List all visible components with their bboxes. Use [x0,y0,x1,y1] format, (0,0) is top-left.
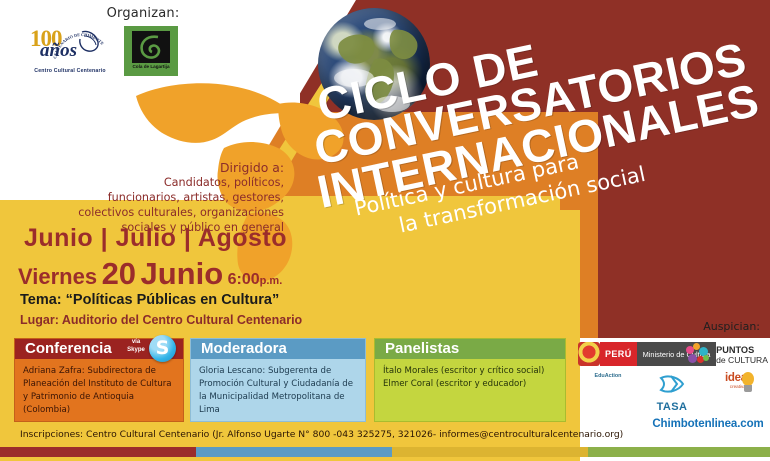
logo-caption-lagartija: Cola de Lagartija [124,64,178,69]
event-weekday: Viernes [18,264,97,289]
logo-word-anos: años [40,40,77,62]
eduaction-label: EduAction [580,373,636,379]
month-separator-2: | [184,224,192,252]
skype-icon: S [149,335,176,362]
panel-panelistas-title: Panelistas [385,340,459,357]
sponsor-eduaction: EduAction [580,372,636,379]
puntos-line-1: PUNTOS [716,345,754,355]
event-time: 6:00 [228,271,260,288]
event-date-line: Viernes 20 Junio 6:00p.m. [18,256,282,292]
panel-panelistas: Panelistas Ítalo Morales (escritor y crí… [374,338,566,422]
panel-panelistas-body: Ítalo Morales (escritor y crítico social… [375,359,565,395]
strip-segment-red [0,447,196,457]
months-line: Junio | Julio | Agosto [24,224,287,253]
panel-conferencia: Conferencia vía Skype S Adriana Zafra: S… [14,338,184,422]
tasa-label: TASA [642,401,702,413]
skype-via-word: vía [132,339,140,345]
panel-panelistas-header: Panelistas [375,339,565,359]
panel-conferencia-header: Conferencia vía Skype S [15,339,183,359]
event-meridiem: p.m. [260,275,283,287]
tasa-fish-icon [657,383,687,400]
event-venue: Lugar: Auditorio del Centro Cultural Cen… [20,313,302,327]
auspician-label: Auspician: [640,320,760,333]
panel-moderadora-header: Moderadora [191,339,365,359]
event-month: Junio [141,256,224,291]
logo-cola-de-lagartija: Cola de Lagartija [124,26,178,76]
panel-moderadora-body: Gloria Lescano: Subgerenta de Promoción … [191,359,365,421]
audience-line-2: funcionarios, artistas, gestores, [52,191,284,206]
month-junio: Junio [24,224,93,252]
audience-line-3: colectivos culturales, organizaciones [52,206,284,221]
event-day: 20 [102,256,136,291]
panel-moderadora-title: Moderadora [201,340,287,357]
panel-moderadora: Moderadora Gloria Lescano: Subgerenta de… [190,338,366,422]
panelista-1: Ítalo Morales (escritor y crítico social… [383,365,557,378]
event-theme: Tema: “Políticas Públicas en Cultura” [20,292,279,308]
panel-conferencia-title: Conferencia [25,340,112,357]
panelista-2: Elmer Coral (escritor y educador) [383,378,557,391]
sponsor-row-primary: PERÚ Ministerio de Cultura PUNTOS de CUL… [578,342,768,368]
strip-segment-blue [196,447,392,457]
ideas-label: ideas [708,372,770,384]
ideas-sublabel: creativas [708,384,770,389]
strip-segment-green [588,447,770,457]
panel-conferencia-body: Adriana Zafra: Subdirectora de Planeació… [15,359,183,421]
month-julio: Julio [116,224,177,252]
sponsor-chimbotenlinea[interactable]: Chimbotenlinea.com [648,418,768,430]
logo-centro-cultural-centenario: CENTENARIO DE CHIMBOTE 100 años Centro C… [24,24,116,78]
month-agosto: Agosto [198,224,287,252]
skype-via-text: vía Skype [121,339,151,354]
bottom-color-strip [0,447,770,457]
skype-service-word: Skype [127,347,145,353]
sponsor-peru-label: PERÚ [600,342,637,366]
puntos-dots-icon [686,343,712,367]
month-separator-1: | [101,224,109,252]
organizan-label: Organizan: [78,6,208,21]
peru-coat-of-arms-icon [578,342,600,366]
puntos-line-2: de CULTURA [716,355,768,365]
puntos-text: PUNTOS de CULTURA [716,345,768,366]
logo-caption-centenario: Centro Cultural Centenario [22,68,118,74]
audience-line-1: Candidatos, políticos, [52,176,284,191]
sponsor-puntos-de-cultura: PUNTOS de CULTURA [686,342,768,368]
sponsor-row-secondary: EduAction TASA ideas creativas [580,372,770,414]
poster-canvas: Organizan: CENTENARIO DE CHIMBOTE 100 añ… [0,0,770,461]
skype-badge[interactable]: vía Skype S [121,338,179,360]
audience-heading: Dirigido a: [52,160,284,176]
lagartija-spiral-icon [132,31,170,63]
strip-segment-yellow [392,447,588,457]
sponsor-tasa: TASA [642,372,702,413]
sponsor-ideas-creativas: ideas creativas [708,372,770,389]
inscripciones-text: Inscripciones: Centro Cultural Centenari… [20,429,623,440]
